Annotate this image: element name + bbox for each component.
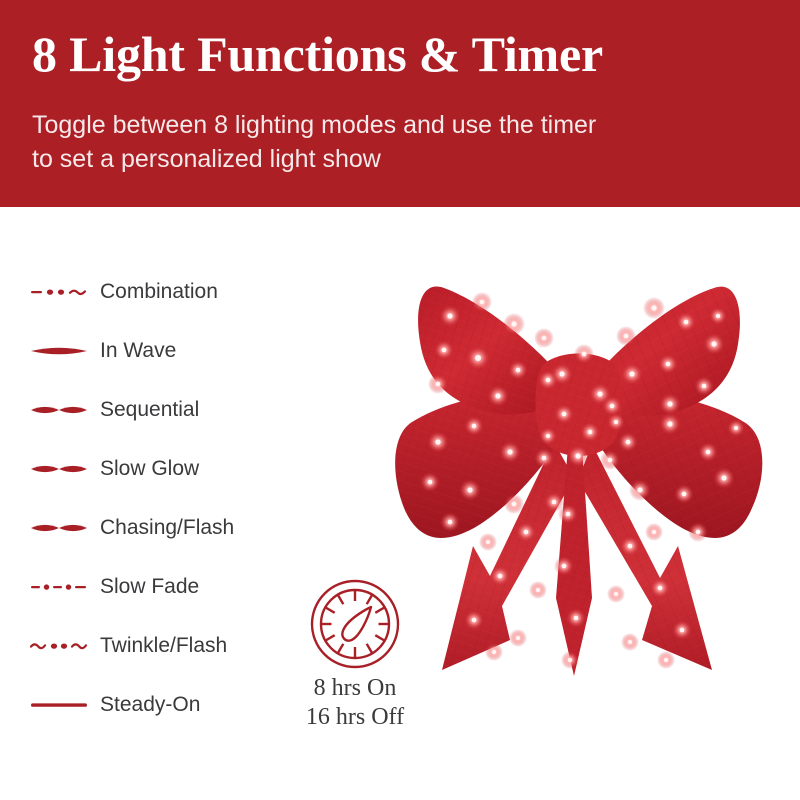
wave-dot-dot-wave-icon: [30, 635, 88, 657]
legend-label: Combination: [100, 280, 218, 304]
double-lens-line-icon: [30, 458, 88, 480]
long-lens-line-icon: [30, 340, 88, 362]
legend-item-sequential: Sequential: [30, 380, 330, 439]
legend-item-in-wave: In Wave: [30, 321, 330, 380]
dash-dot-dot-wave-icon: [30, 281, 88, 303]
legend-item-slow-fade: Slow Fade: [30, 557, 330, 616]
subtitle-line-2: to set a personalized light show: [32, 142, 596, 176]
subtitle-line-1: Toggle between 8 lighting modes and use …: [32, 108, 596, 142]
legend-label: Slow Glow: [100, 457, 199, 481]
legend-item-steady-on: Steady-On: [30, 675, 330, 734]
double-lens-line-icon: [30, 517, 88, 539]
page-subtitle: Toggle between 8 lighting modes and use …: [32, 108, 596, 176]
timer-off-text: 16 hrs Off: [290, 703, 420, 732]
header-banner: 8 Light Functions & Timer Toggle between…: [0, 0, 800, 207]
lighted-red-christmas-bow: [378, 246, 782, 694]
legend-item-slow-glow: Slow Glow: [30, 439, 330, 498]
legend-item-chasing-flash: Chasing/Flash: [30, 498, 330, 557]
legend-label: Sequential: [100, 398, 199, 422]
legend-label: Slow Fade: [100, 575, 199, 599]
light-functions-legend: Combination In Wave Sequential Slow Glow: [30, 262, 330, 734]
double-lens-line-icon: [30, 399, 88, 421]
product-image-bow: [378, 246, 782, 694]
legend-item-combination: Combination: [30, 262, 330, 321]
legend-item-twinkle-flash: Twinkle/Flash: [30, 616, 330, 675]
promo-graphic: 8 Light Functions & Timer Toggle between…: [0, 0, 800, 800]
legend-label: In Wave: [100, 339, 176, 363]
page-title: 8 Light Functions & Timer: [32, 24, 603, 84]
solid-line-icon: [30, 694, 88, 716]
dash-dot-dash-dot-icon: [30, 576, 88, 598]
legend-label: Twinkle/Flash: [100, 634, 227, 658]
legend-label: Steady-On: [100, 693, 200, 717]
legend-label: Chasing/Flash: [100, 516, 234, 540]
